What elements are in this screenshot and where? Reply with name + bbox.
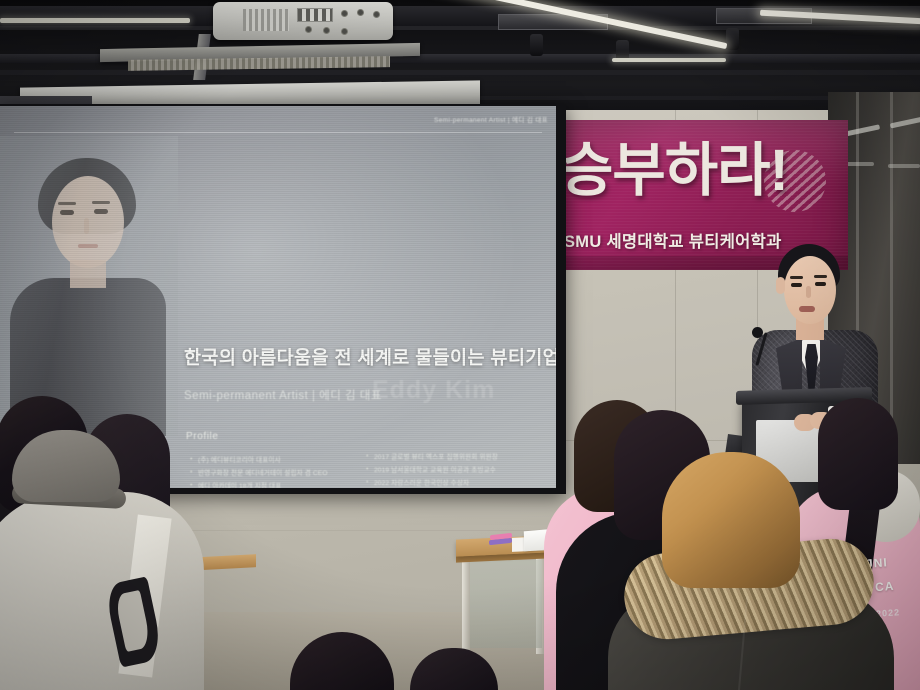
linear-led-strip xyxy=(612,58,726,62)
ceiling-beam xyxy=(0,70,920,75)
ceiling xyxy=(0,0,920,118)
audience-cream-hoodie xyxy=(0,492,204,690)
linear-led-strip xyxy=(0,18,190,23)
projector-knob xyxy=(373,11,380,18)
window-mullion xyxy=(890,92,893,464)
audience-member-head xyxy=(662,452,800,588)
lecture-hall-photo: 승부하라! SMU 세명대학교 뷰티케어학과 …기 하는 것을 사랑해 Semi… xyxy=(0,0,920,690)
projector-knob xyxy=(341,10,348,17)
ceiling-beam xyxy=(0,26,920,30)
projector-port xyxy=(323,27,330,34)
ceiling-spotlight xyxy=(530,34,543,56)
banner-headline: 승부하라! xyxy=(560,142,790,200)
speaker-eyebrow xyxy=(814,275,827,278)
desk-modesty-panel xyxy=(470,560,542,648)
speaker-eyebrow xyxy=(790,276,803,279)
glass-reflection xyxy=(844,124,880,136)
audience-member-head xyxy=(818,398,898,510)
microphone-icon xyxy=(752,327,763,338)
projector-port xyxy=(305,26,312,33)
ceiling-spotlight xyxy=(726,28,739,50)
projector-button-panel xyxy=(297,8,333,22)
speaker-ear xyxy=(776,277,785,294)
glass-reflection xyxy=(888,164,920,168)
projector xyxy=(213,2,393,40)
projector-knob xyxy=(357,9,364,16)
ceiling-rail xyxy=(128,56,390,71)
projector-port xyxy=(341,28,348,35)
speaker-mouth xyxy=(799,306,815,312)
speaker-eye xyxy=(815,282,826,286)
desk-leg xyxy=(462,552,470,654)
glass-reflection xyxy=(890,117,920,129)
banner-subtitle: SMU 세명대학교 뷰티케어학과 xyxy=(564,228,782,252)
speaker-nose xyxy=(806,286,811,298)
projector-vent-grille xyxy=(243,9,289,31)
speaker-eye xyxy=(791,283,802,287)
